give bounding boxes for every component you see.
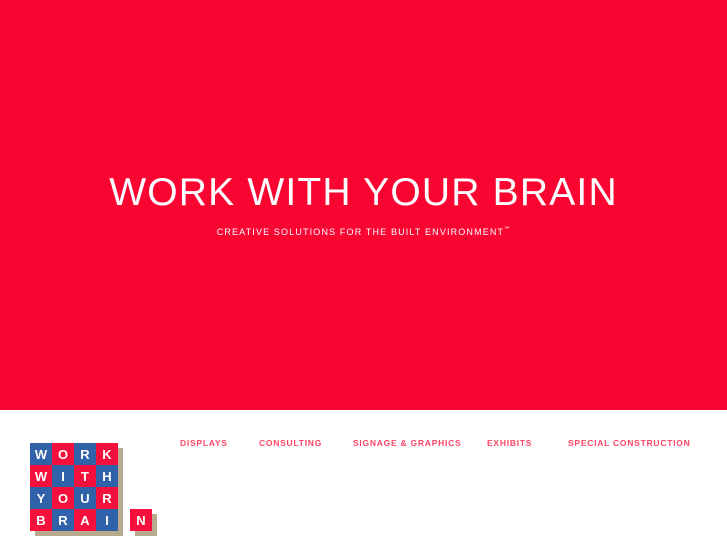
logo-tile: T	[74, 465, 96, 487]
landing-page: WORK WITH YOUR BRAIN CREATIVE SOLUTIONS …	[0, 0, 727, 545]
logo-tile: W	[30, 465, 52, 487]
nav-item-exhibits[interactable]: EXHIBITS	[487, 436, 532, 450]
nav-item-special-construction[interactable]: SPECIAL CONSTRUCTION	[568, 436, 691, 450]
footer-navigation: DISPLAYS CONSULTING SIGNAGE & GRAPHICS E…	[170, 436, 710, 452]
logo-tile: O	[52, 443, 74, 465]
logo-tile: W	[30, 443, 52, 465]
logo-tile: Y	[30, 487, 52, 509]
logo-letter-grid: W O R K W I T H Y O U R B R A I	[30, 443, 118, 531]
page-title: WORK WITH YOUR BRAIN	[0, 172, 727, 214]
logo-tile: I	[96, 509, 118, 531]
site-logo[interactable]: W O R K W I T H Y O U R B R A I N	[26, 440, 150, 536]
logo-tile: R	[96, 487, 118, 509]
logo-tile: U	[74, 487, 96, 509]
hero-banner: WORK WITH YOUR BRAIN CREATIVE SOLUTIONS …	[0, 0, 727, 410]
logo-tile: K	[96, 443, 118, 465]
page-tagline: CREATIVE SOLUTIONS FOR THE BUILT ENVIRON…	[0, 224, 727, 238]
service-mark-icon: ℠	[504, 227, 510, 233]
logo-tile: I	[52, 465, 74, 487]
logo-tile: H	[96, 465, 118, 487]
logo-tile: R	[52, 509, 74, 531]
logo-tile: R	[74, 443, 96, 465]
logo-tile: A	[74, 509, 96, 531]
nav-item-consulting[interactable]: CONSULTING	[259, 436, 322, 450]
logo-tile: O	[52, 487, 74, 509]
logo-tile: B	[30, 509, 52, 531]
logo-tile-n: N	[130, 509, 152, 531]
tagline-text: CREATIVE SOLUTIONS FOR THE BUILT ENVIRON…	[217, 227, 504, 237]
nav-item-signage-and-graphics[interactable]: SIGNAGE & GRAPHICS	[353, 436, 461, 450]
nav-item-displays[interactable]: DISPLAYS	[180, 436, 228, 450]
